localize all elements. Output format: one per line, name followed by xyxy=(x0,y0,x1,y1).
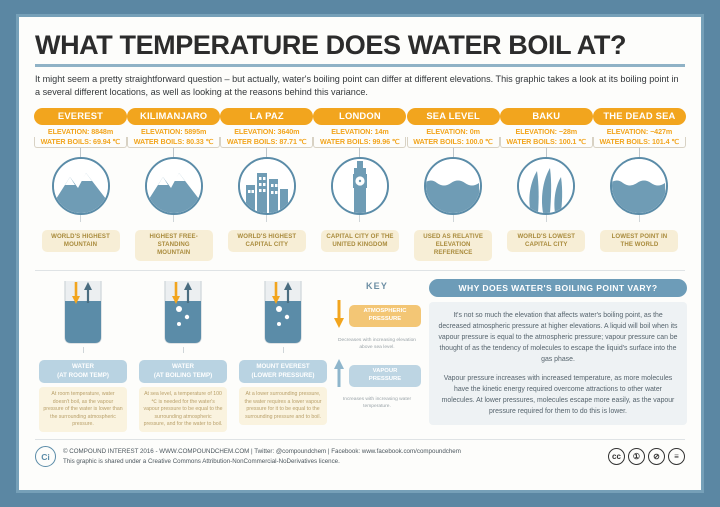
beaker-diagram xyxy=(54,279,112,347)
location-boiling-point: WATER BOILS: 87.71 ℃ xyxy=(220,137,313,148)
connector-line xyxy=(266,148,267,157)
location-name: BAKU xyxy=(500,108,593,124)
key-description: Increases with increasing water temperat… xyxy=(333,397,421,411)
location-boiling-point: WATER BOILS: 80.33 ℃ xyxy=(127,137,220,148)
key-label: VAPOURPRESSURE xyxy=(349,365,421,387)
location-caption: HIGHEST FREE-STANDINGMOUNTAIN xyxy=(135,230,213,261)
location-boiling-point: WATER BOILS: 100.1 ℃ xyxy=(500,137,593,148)
location-elevation: ELEVATION: 5895m xyxy=(127,127,220,136)
connector-line xyxy=(83,347,84,353)
footer-line-1: © COMPOUND INTEREST 2016 - WWW.COMPOUNDC… xyxy=(63,447,608,457)
water-waves-icon xyxy=(610,157,668,215)
location-icon-block-5: WORLD'S LOWESTCAPITAL CITY xyxy=(500,157,593,261)
cc-icon[interactable]: cc xyxy=(608,448,625,465)
key-description: Decreases with increasing elevation abov… xyxy=(333,338,421,352)
location-icons: WORLD'S HIGHESTMOUNTAIN HIGHEST FREE-STA… xyxy=(34,157,686,261)
explanation-panel: WHY DOES WATER'S BOILING POINT VARY? It'… xyxy=(421,279,687,433)
connector-line xyxy=(639,148,640,157)
location-boiling-point: WATER BOILS: 99.96 ℃ xyxy=(313,137,406,148)
footer: Ci © COMPOUND INTEREST 2016 - WWW.COMPOU… xyxy=(33,446,687,467)
location-elevation: ELEVATION: −427m xyxy=(593,127,686,136)
location-icon-block-4: USED AS RELATIVEELEVATION REFERENCE xyxy=(407,157,500,261)
location-boiling-point: WATER BOILS: 69.94 ℃ xyxy=(34,137,127,148)
beaker-label: MOUNT EVEREST(LOWER PRESSURE) xyxy=(239,360,327,384)
mountain-icon xyxy=(52,157,110,215)
flame-towers-icon xyxy=(517,157,575,215)
connector-line xyxy=(546,148,547,157)
connector-line xyxy=(453,215,454,222)
location-elevation: ELEVATION: −28m xyxy=(500,127,593,136)
location-caption: USED AS RELATIVEELEVATION REFERENCE xyxy=(414,230,492,261)
connector-line xyxy=(639,215,640,222)
beaker-diagrams: WATER(AT ROOM TEMP) At room temperature,… xyxy=(33,279,333,433)
key-legend: KEY ATMOSPHERICPRESSURE Decreases with i… xyxy=(333,279,421,433)
location-caption: WORLD'S HIGHESTCAPITAL CITY xyxy=(228,230,306,252)
footer-line-2: This graphic is shared under a Creative … xyxy=(63,457,608,467)
location-cards: EVEREST ELEVATION: 8848m WATER BOILS: 69… xyxy=(34,108,686,157)
connector-line xyxy=(183,347,184,353)
panel-heading: WHY DOES WATER'S BOILING POINT VARY? xyxy=(429,279,687,297)
cc-nd-icon[interactable]: ≡ xyxy=(668,448,685,465)
key-item-1: VAPOURPRESSURE Increases with increasing… xyxy=(333,357,421,411)
location-icon-block-3: CAPITAL CITY OF THEUNITED KINGDOM xyxy=(313,157,406,261)
beaker-note: At room temperature, water doesn't boil,… xyxy=(39,387,127,432)
location-name: LA PAZ xyxy=(220,108,313,124)
section-divider xyxy=(35,270,685,271)
location-boiling-point: WATER BOILS: 100.0 ℃ xyxy=(407,137,500,148)
beaker-note: At sea level, a temperature of 100 ℃ is … xyxy=(139,387,227,432)
location-name: SEA LEVEL xyxy=(407,108,500,124)
beaker-label: WATER(AT BOILING TEMP) xyxy=(139,360,227,384)
location-name: EVEREST xyxy=(34,108,127,124)
intro-text: It might seem a pretty straightforward q… xyxy=(35,73,685,99)
location-caption: LOWEST POINT INTHE WORLD xyxy=(600,230,678,252)
location-elevation: ELEVATION: 0m xyxy=(407,127,500,136)
footer-text: © COMPOUND INTEREST 2016 - WWW.COMPOUNDC… xyxy=(63,447,608,467)
creative-commons-badges: cc ① ⊘ ≡ xyxy=(608,448,685,465)
connector-line xyxy=(453,148,454,157)
connector-line xyxy=(546,215,547,222)
title-divider xyxy=(35,64,685,67)
cc-by-icon[interactable]: ① xyxy=(628,448,645,465)
panel-body: It's not so much the elevation that affe… xyxy=(429,302,687,426)
location-icon-block-1: HIGHEST FREE-STANDINGMOUNTAIN xyxy=(127,157,220,261)
panel-paragraph-0: It's not so much the elevation that affe… xyxy=(438,310,678,366)
connector-line xyxy=(80,215,81,222)
location-icon-block-0: WORLD'S HIGHESTMOUNTAIN xyxy=(34,157,127,261)
location-elevation: ELEVATION: 3640m xyxy=(220,127,313,136)
city-skyline-icon xyxy=(238,157,296,215)
key-label: ATMOSPHERICPRESSURE xyxy=(349,305,421,327)
beaker-note: At a lower surrounding pressure, the wat… xyxy=(239,387,327,425)
location-card-1[interactable]: KILIMANJARO ELEVATION: 5895m WATER BOILS… xyxy=(127,108,220,157)
location-boiling-point: WATER BOILS: 101.4 ℃ xyxy=(593,137,686,148)
location-card-4[interactable]: SEA LEVEL ELEVATION: 0m WATER BOILS: 100… xyxy=(407,108,500,157)
connector-line xyxy=(283,347,284,353)
connector-line xyxy=(173,148,174,157)
location-card-5[interactable]: BAKU ELEVATION: −28m WATER BOILS: 100.1 … xyxy=(500,108,593,157)
location-card-2[interactable]: LA PAZ ELEVATION: 3640m WATER BOILS: 87.… xyxy=(220,108,313,157)
big-ben-icon xyxy=(331,157,389,215)
beaker-column-2: MOUNT EVEREST(LOWER PRESSURE) At a lower… xyxy=(237,279,329,433)
water-waves-icon xyxy=(424,157,482,215)
connector-line xyxy=(359,148,360,157)
connector-line xyxy=(266,215,267,222)
beaker-column-1: WATER(AT BOILING TEMP) At sea level, a t… xyxy=(137,279,229,433)
location-caption: CAPITAL CITY OF THEUNITED KINGDOM xyxy=(321,230,399,252)
key-item-0: ATMOSPHERICPRESSURE Decreases with incre… xyxy=(333,298,421,352)
mountain-icon xyxy=(145,157,203,215)
location-card-3[interactable]: LONDON ELEVATION: 14m WATER BOILS: 99.96… xyxy=(313,108,406,157)
location-elevation: ELEVATION: 14m xyxy=(313,127,406,136)
panel-paragraph-1: Vapour pressure increases with increased… xyxy=(438,373,678,418)
connector-line xyxy=(80,148,81,157)
key-title: KEY xyxy=(333,281,421,291)
beaker-diagram xyxy=(154,279,212,347)
location-caption: WORLD'S HIGHESTMOUNTAIN xyxy=(42,230,120,252)
location-caption: WORLD'S LOWESTCAPITAL CITY xyxy=(507,230,585,252)
compound-interest-logo: Ci xyxy=(35,446,56,467)
location-name: THE DEAD SEA xyxy=(593,108,686,124)
infographic-frame: WHAT TEMPERATURE DOES WATER BOIL AT? It … xyxy=(16,14,704,493)
connector-line xyxy=(359,215,360,222)
page-title: WHAT TEMPERATURE DOES WATER BOIL AT? xyxy=(35,31,687,59)
location-icon-block-6: LOWEST POINT INTHE WORLD xyxy=(593,157,686,261)
location-name: KILIMANJARO xyxy=(127,108,220,124)
beaker-label: WATER(AT ROOM TEMP) xyxy=(39,360,127,384)
location-card-6[interactable]: THE DEAD SEA ELEVATION: −427m WATER BOIL… xyxy=(593,108,686,157)
down-arrow-icon xyxy=(333,298,345,335)
beaker-diagram xyxy=(254,279,312,347)
location-icon-block-2: WORLD'S HIGHESTCAPITAL CITY xyxy=(220,157,313,261)
connector-line xyxy=(173,215,174,222)
location-name: LONDON xyxy=(313,108,406,124)
up-arrow-icon xyxy=(333,357,345,394)
location-card-0[interactable]: EVEREST ELEVATION: 8848m WATER BOILS: 69… xyxy=(34,108,127,157)
footer-divider xyxy=(35,439,685,440)
cc-nc-icon[interactable]: ⊘ xyxy=(648,448,665,465)
location-elevation: ELEVATION: 8848m xyxy=(34,127,127,136)
beaker-column-0: WATER(AT ROOM TEMP) At room temperature,… xyxy=(37,279,129,433)
